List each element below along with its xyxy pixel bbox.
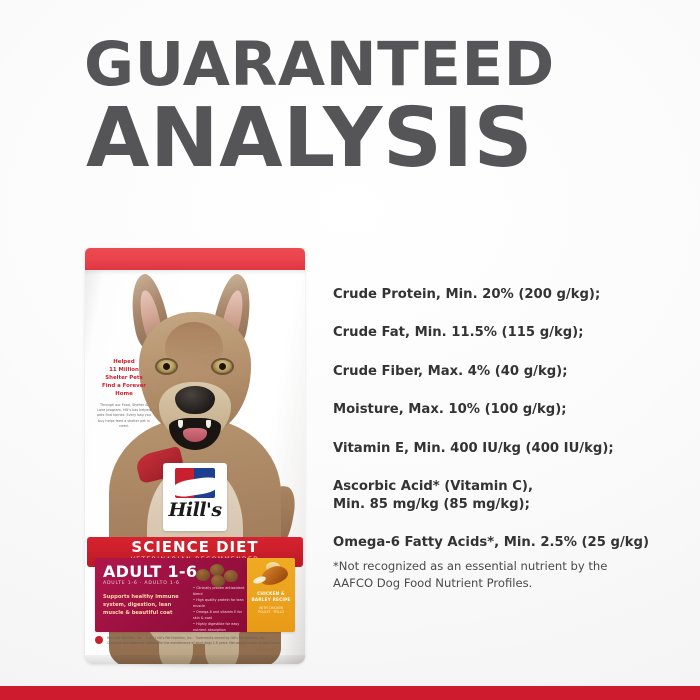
nutrition-item: Ascorbic Acid* (Vitamin C), Min. 85 mg/k… [333, 478, 673, 513]
nutrition-item: Crude Fiber, Max. 4% (40 g/kg); [333, 363, 673, 380]
nutrition-item: Omega-6 Fatty Acids*, Min. 2.5% (25 g/kg… [333, 534, 673, 551]
dog-nose [175, 386, 215, 414]
page-title-line-1: GUARANTEED [84, 36, 644, 94]
page-title: GUARANTEED ANALYSIS [84, 36, 644, 178]
dog-eye-left [157, 360, 176, 373]
product-claim-text: Supports healthy immune system, digestio… [103, 593, 187, 617]
kibble-cluster-icon [195, 563, 241, 585]
bottom-red-bar [0, 686, 700, 700]
flavor-label: CHICKEN & BARLEY RECIPE [247, 591, 295, 604]
kibble-piece [211, 575, 225, 587]
guaranteed-analysis-panel: GUARANTEED ANALYSIS [0, 0, 700, 700]
life-stage-banner: ADULT 1-6 ADULTE 1-6 · ADULTO 1-6 Suppor… [95, 558, 295, 632]
hills-wordmark: Hill's [163, 501, 227, 520]
dog-tongue [183, 428, 207, 442]
flavor-sublabel: WITH CHICKEN POULET · POLLO [247, 606, 295, 616]
nutrition-footnote: *Not recognized as an essential nutrient… [333, 558, 663, 592]
nutrition-item: Moisture, Max. 10% (100 g/kg); [333, 401, 673, 418]
flavor-panel: CHICKEN & BARLEY RECIPE WITH CHICKEN POU… [247, 558, 295, 632]
shelter-pets-headline: Helped 11 Million Shelter Pets Find a Fo… [97, 358, 151, 399]
nutrition-item: Vitamin E, Min. 400 IU/kg (400 IU/kg); [333, 440, 673, 457]
nutrition-item: Crude Fat, Min. 11.5% (115 g/kg); [333, 324, 673, 341]
life-stage-banner-main: ADULT 1-6 ADULTE 1-6 · ADULTO 1-6 Suppor… [95, 558, 247, 632]
nutrition-item: Crude Protein, Min. 20% (200 g/kg); [333, 286, 673, 303]
shelter-pets-callout: Helped 11 Million Shelter Pets Find a Fo… [97, 358, 151, 430]
dog-tooth-left [178, 420, 183, 428]
product-image: Helped 11 Million Shelter Pets Find a Fo… [78, 244, 318, 674]
dog-food-bag: Helped 11 Million Shelter Pets Find a Fo… [85, 248, 305, 664]
dog-pupil-right [219, 363, 226, 370]
kibble-piece [224, 570, 238, 582]
bag-legal-strip: Hill's Pet Nutrition, Inc. · ©2021 Hill'… [95, 636, 295, 647]
shelter-pets-subtext: Through our Food, Shelter & Love program… [97, 403, 151, 430]
science-diet-label: SCIENCE DIET [87, 540, 303, 555]
hills-logo-mark-icon [175, 468, 215, 498]
hills-brand-logo: Hill's [163, 463, 227, 531]
bag-legal-bullet-icon [95, 636, 103, 644]
bag-bottom-crimp [85, 655, 305, 664]
product-benefit-bullets: • Clinically proven antioxidant blend • … [193, 586, 249, 632]
bag-top-red-band [85, 248, 305, 270]
dog-tooth-right [206, 420, 211, 428]
guaranteed-analysis-list: Crude Protein, Min. 20% (200 g/kg); Crud… [333, 286, 673, 572]
chicken-drumstick-icon [252, 563, 290, 589]
kibble-piece [196, 569, 210, 581]
dog-pupil-left [163, 363, 170, 370]
dog-eye-right [213, 360, 232, 373]
page-title-line-2: ANALYSIS [86, 100, 644, 178]
bag-legal-text: Hill's Pet Nutrition, Inc. · ©2021 Hill'… [107, 636, 281, 647]
